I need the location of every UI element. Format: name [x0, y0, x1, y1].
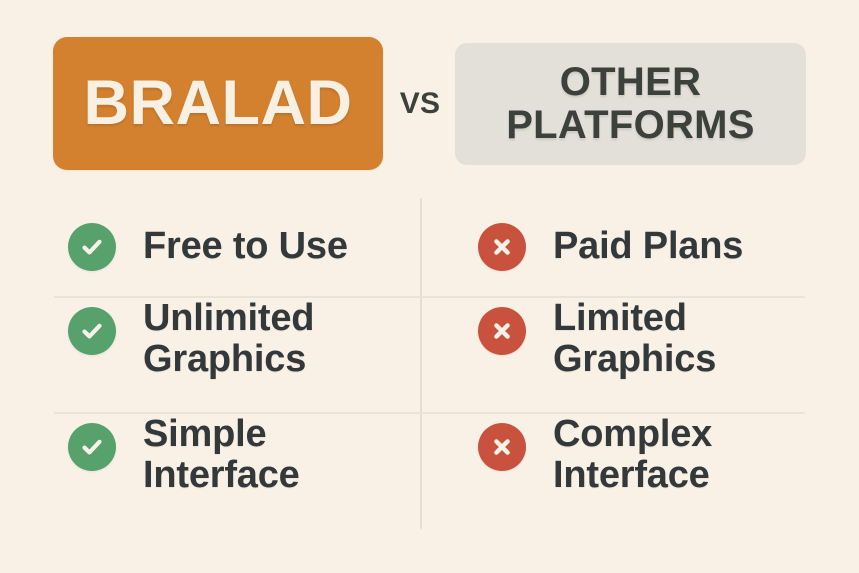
feature-label-line2: Graphics: [143, 339, 314, 380]
feature-cell-bralad: Simple Interface: [68, 414, 408, 529]
infographic-canvas: BRALAD VS OTHER PLATFORMS Free to Use: [0, 0, 859, 573]
feature-label-line1: Simple: [143, 414, 300, 455]
comparison-header: BRALAD VS OTHER PLATFORMS: [0, 37, 859, 170]
feature-label-line2: Interface: [143, 455, 300, 496]
feature-label: Complex Interface: [553, 414, 712, 496]
feature-label-line1: Paid Plans: [553, 226, 743, 267]
feature-label: Simple Interface: [143, 414, 300, 496]
cross-circle-icon: [478, 423, 526, 471]
feature-label: Paid Plans: [553, 226, 743, 267]
check-circle-icon: [68, 223, 116, 271]
brand-badge: BRALAD: [53, 37, 383, 170]
other-platforms-badge: OTHER PLATFORMS: [455, 43, 806, 165]
feature-cell-other: Paid Plans: [478, 198, 818, 296]
feature-label: Free to Use: [143, 226, 348, 267]
other-platforms-label-line1: OTHER: [560, 61, 702, 104]
cross-circle-icon: [478, 307, 526, 355]
feature-label-line1: Complex: [553, 414, 712, 455]
cross-circle-icon: [478, 223, 526, 271]
brand-name-label: BRALAD: [84, 72, 353, 135]
check-circle-icon: [68, 307, 116, 355]
feature-label: Unlimited Graphics: [143, 298, 314, 380]
comparison-row: Simple Interface Complex Interface: [0, 414, 859, 529]
feature-label-line1: Free to Use: [143, 226, 348, 267]
other-platforms-label-line2: PLATFORMS: [506, 104, 755, 147]
feature-cell-bralad: Unlimited Graphics: [68, 298, 408, 412]
feature-label-line2: Graphics: [553, 339, 716, 380]
feature-label-line1: Limited: [553, 298, 716, 339]
feature-label-line2: Interface: [553, 455, 712, 496]
feature-label-line1: Unlimited: [143, 298, 314, 339]
comparison-row: Free to Use Paid Plans: [0, 198, 859, 296]
comparison-grid: Free to Use Paid Plans: [0, 198, 859, 529]
comparison-row: Unlimited Graphics Limited Graphics: [0, 298, 859, 412]
feature-cell-bralad: Free to Use: [68, 198, 408, 296]
vs-label: VS: [392, 37, 448, 170]
feature-cell-other: Limited Graphics: [478, 298, 818, 412]
feature-cell-other: Complex Interface: [478, 414, 818, 529]
feature-label: Limited Graphics: [553, 298, 716, 380]
check-circle-icon: [68, 423, 116, 471]
